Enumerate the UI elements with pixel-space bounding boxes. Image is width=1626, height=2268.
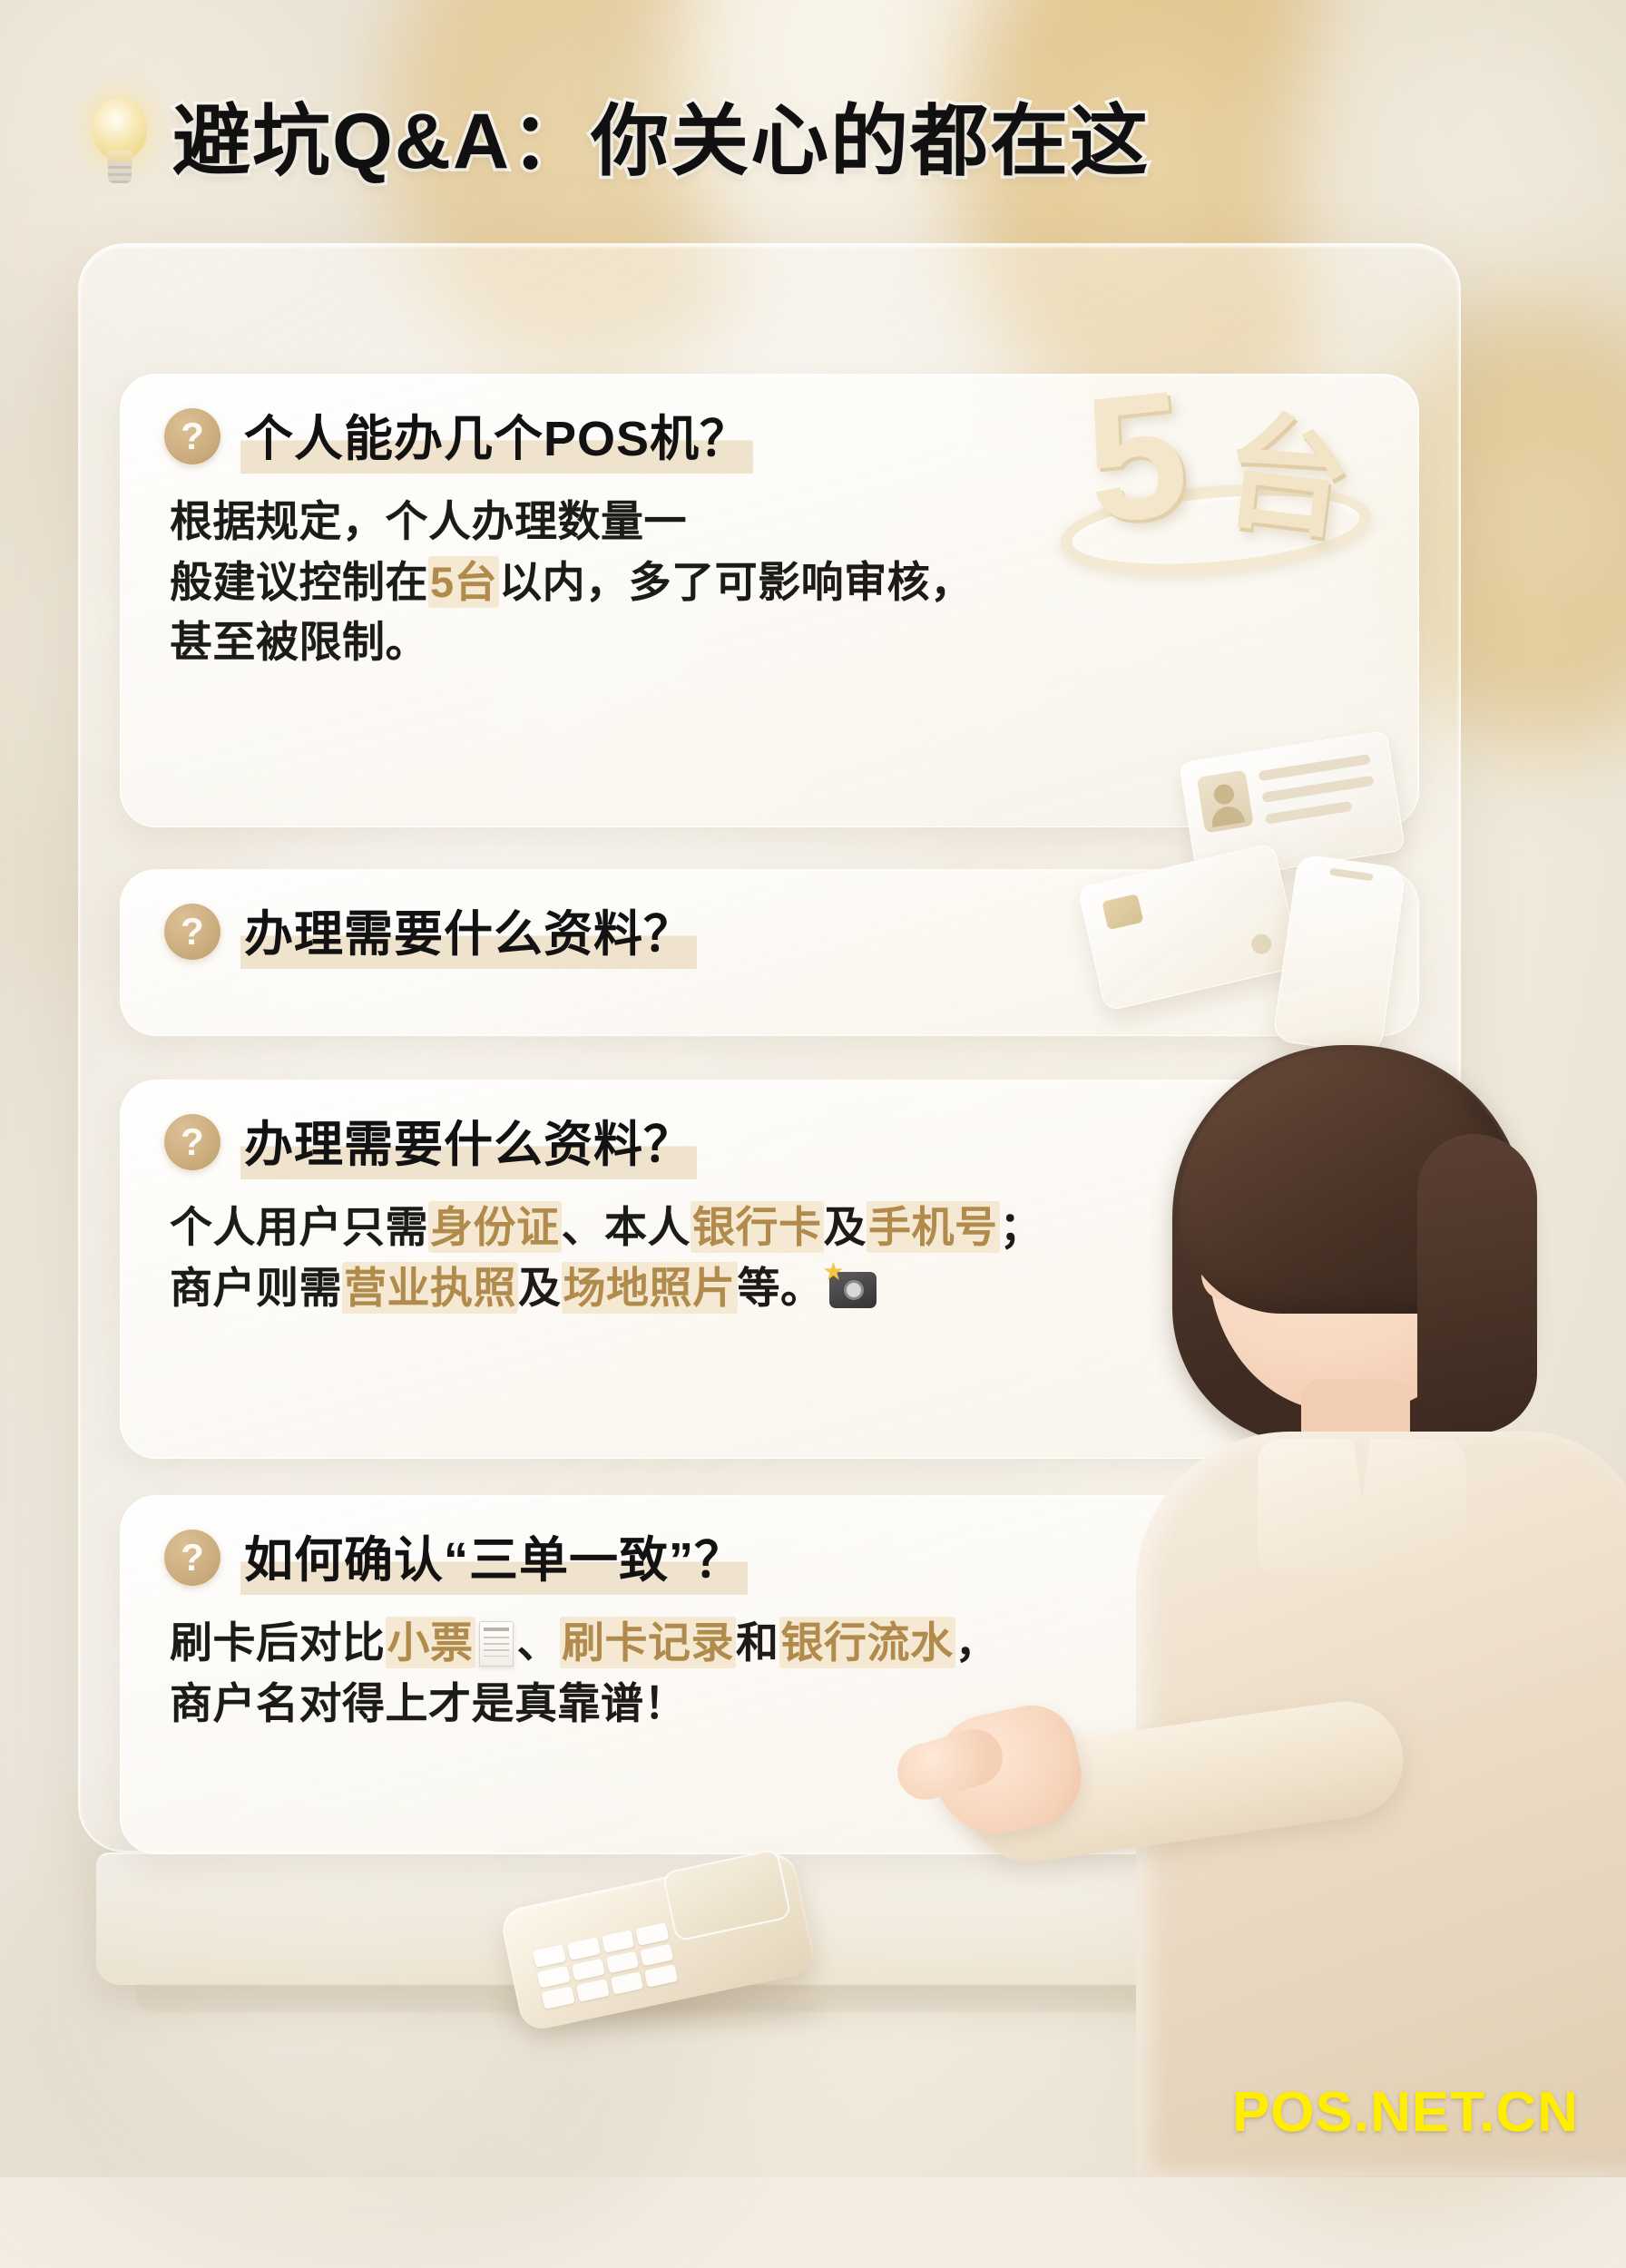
question-mark-icon: ? [164,1530,220,1586]
faq-question-text: 如何确认“三单一致”？ [240,1520,748,1595]
answer-line: 甚至被限制。 [170,612,1418,673]
highlight-term: 身份证 [428,1201,562,1253]
lightbulb-icon [87,98,152,185]
highlight-term: 小票 [386,1617,475,1668]
faq-question-text: 办理需要什么资料？ [240,894,697,969]
five-units-sculpture-icon: 5 台 [1043,372,1397,581]
character-hair-side [1417,1134,1537,1433]
page-title: 避坑Q&A：你关心的都在这 [87,98,1150,185]
sculpture-unit: 台 [1216,406,1357,548]
faq-question-text: 办理需要什么资料？ [240,1104,697,1179]
sculpture-number: 5 [1078,364,1195,551]
highlight-term: 5台 [428,556,499,608]
highlight-term: 刷卡记录 [560,1617,736,1668]
highlight-term: 营业执照 [342,1262,518,1314]
faq-question-text: 个人能办几个POS机？ [240,398,753,474]
highlight-term: 场地照片 [562,1262,738,1314]
site-watermark: POS.NET.CN [1232,2080,1579,2145]
character-illustration [909,998,1626,2177]
page-title-text: 避坑Q&A：你关心的都在这 [172,103,1150,181]
bank-card-icon [1077,843,1302,1012]
highlight-term: 银行卡 [691,1201,824,1253]
receipt-icon [479,1621,514,1667]
question-mark-icon: ? [164,904,220,960]
camera-icon [829,1272,877,1308]
question-mark-icon: ? [164,1114,220,1170]
question-mark-icon: ? [164,408,220,464]
pos-terminal-icon [508,1842,844,2023]
